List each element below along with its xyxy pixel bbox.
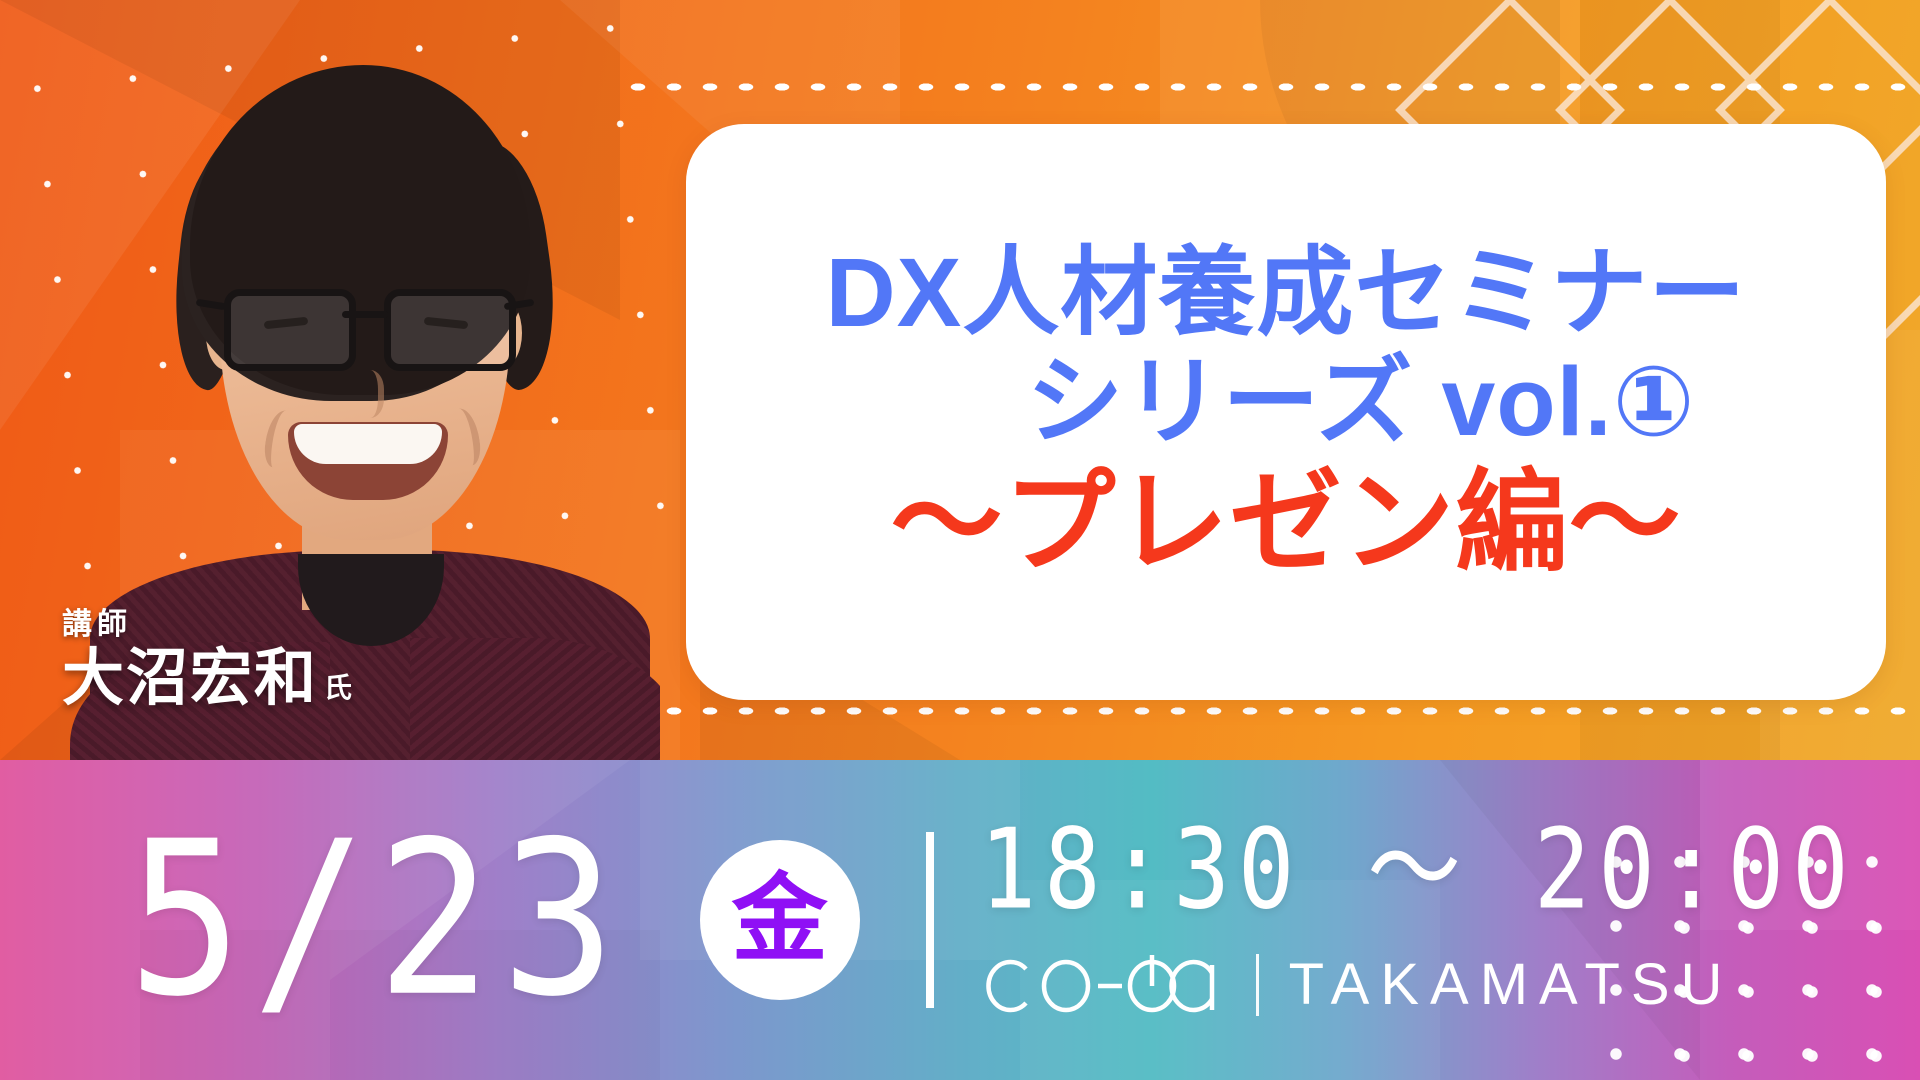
lens-right [384,289,516,371]
venue-city: TAKAMATSU [1289,956,1734,1014]
seminar-title-line-2: シリーズ vol.① [876,351,1695,454]
dotted-line-bottom [620,702,1920,720]
dotted-line-top [620,78,1920,96]
seminar-subtitle: 〜プレゼン編〜 [891,464,1682,582]
co-ba-logo-icon [980,953,1230,1017]
teeth [294,424,442,464]
time-and-venue-block: 18:30 ～ 20:00 TA [980,823,1857,1017]
bottom-info-bar: 5/23 金 18:30 ～ 20:00 [0,760,1920,1080]
venue-brand-row: TAKAMATSU [980,953,1857,1017]
date-time-row: 5/23 金 18:30 ～ 20:00 [0,760,1920,1080]
instructor-name-row: 大沼宏和 氏 [62,648,352,710]
event-time: 18:30 ～ 20:00 [980,814,1857,927]
event-banner: 講師 大沼宏和 氏 DX人材養成セミナー シリーズ vol.① 〜プレゼン編〜 … [0,0,1920,1080]
event-date: 5/23 [128,814,626,1027]
instructor-role-label: 講師 [62,610,352,640]
top-orange-section: 講師 大沼宏和 氏 DX人材養成セミナー シリーズ vol.① 〜プレゼン編〜 [0,0,1920,760]
day-of-week-label: 金 [732,872,828,968]
title-card: DX人材養成セミナー シリーズ vol.① 〜プレゼン編〜 [686,124,1886,700]
brand-divider [1256,954,1259,1016]
lens-left [224,289,356,371]
glasses-icon [218,285,518,365]
vertical-divider [926,832,934,1008]
instructor-name-suffix: 氏 [324,666,352,710]
instructor-name: 大沼宏和 [62,648,318,710]
glasses-bridge [342,311,388,318]
day-of-week-badge: 金 [700,840,860,1000]
instructor-caption: 講師 大沼宏和 氏 [62,610,352,710]
seminar-title-line-1: DX人材養成セミナー [826,242,1747,345]
nose [350,370,384,418]
